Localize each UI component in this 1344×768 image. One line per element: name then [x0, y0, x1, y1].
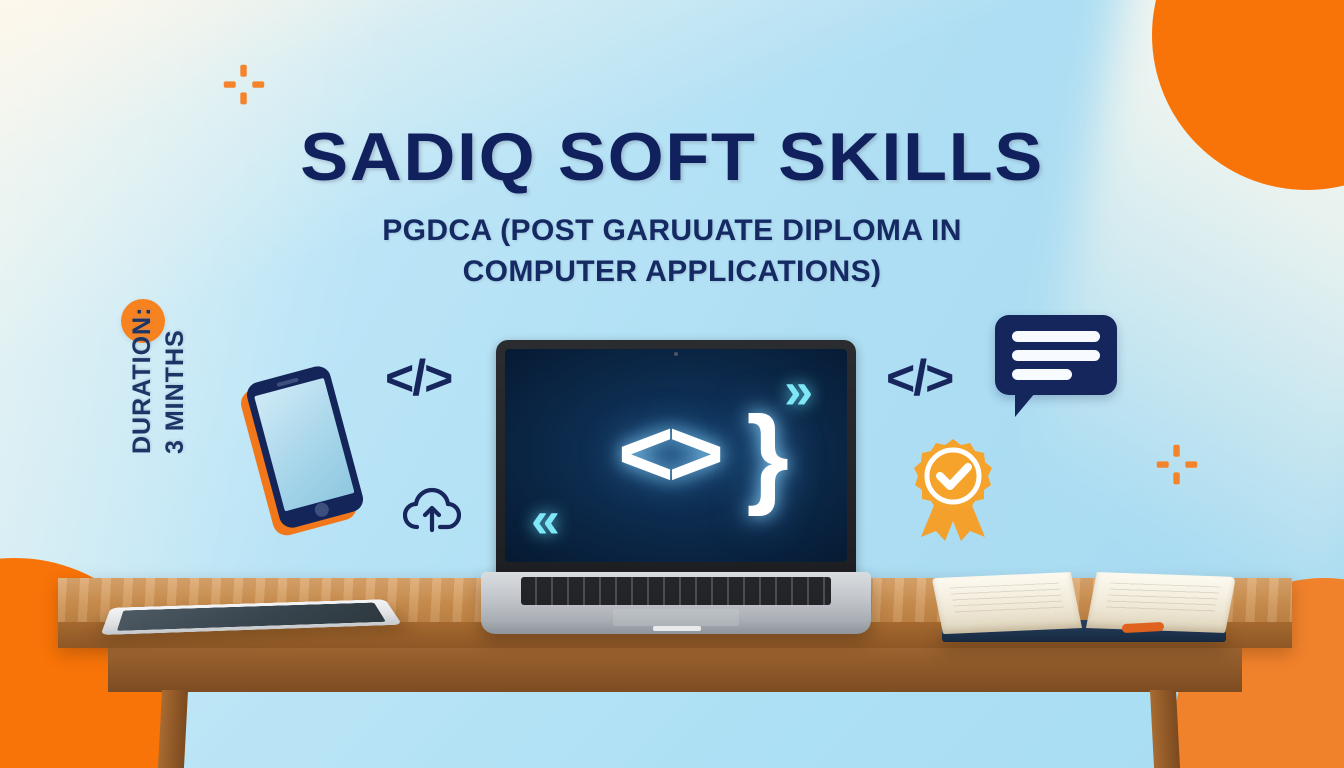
desk-leg-right: [1150, 690, 1180, 768]
desk-apron: [108, 648, 1242, 692]
sparkle-plus-icon-right: [1157, 445, 1197, 485]
curly-brace-glyph: }: [746, 401, 789, 511]
laptop-base: [481, 572, 871, 634]
promotional-banner: SADIQ SOFT SKILLS PGDCA (POST GARUUATE D…: [0, 0, 1344, 768]
trackpad: [613, 609, 739, 626]
book-text-lines: [950, 583, 1064, 614]
webcam-icon: [674, 352, 678, 356]
code-tag-icon-right: </>: [886, 353, 952, 403]
duration-value-text: 3 MINTHS: [161, 224, 190, 454]
duration-label-text: DURATION:: [128, 307, 156, 454]
book-page-left: [932, 572, 1082, 634]
chat-text-line: [1012, 331, 1100, 342]
duration-label: DURATION: 3 MINTHS: [128, 224, 190, 454]
desk-leg-left: [158, 690, 188, 768]
laptop-lid: » <> } «: [496, 340, 856, 578]
title-block: SADIQ SOFT SKILLS PGDCA (POST GARUUATE D…: [0, 0, 1344, 293]
page-subtitle: PGDCA (POST GARUUATE DIPLOMA IN COMPUTER…: [332, 210, 1012, 293]
chat-text-line: [1012, 350, 1100, 361]
code-tag-icon-left: </>: [385, 353, 451, 403]
page-title: SADIQ SOFT SKILLS: [0, 0, 1344, 196]
tablet-screen: [117, 603, 386, 631]
chat-bubble-icon: [995, 315, 1117, 395]
smartphone-home-button: [313, 501, 330, 518]
keyboard: [521, 577, 831, 605]
certificate-badge-icon: [905, 437, 1001, 541]
book-text-lines: [1106, 583, 1220, 613]
code-angle-glyph: <>: [618, 406, 718, 502]
chat-text-line: [1012, 369, 1072, 380]
chevron-left-glyph: «: [531, 494, 560, 546]
laptop-latch: [653, 626, 701, 631]
laptop-screen: » <> } «: [505, 349, 847, 562]
cloud-upload-icon: [403, 487, 461, 533]
laptop-computer: » <> } «: [481, 340, 871, 640]
open-book: [936, 560, 1232, 642]
